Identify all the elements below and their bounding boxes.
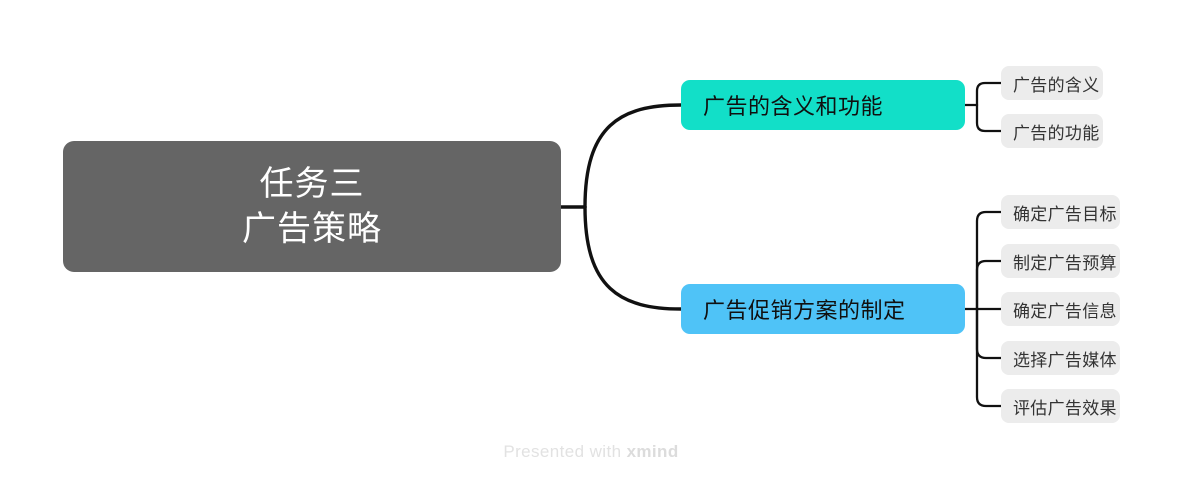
leaf-node-2-5[interactable]: 评估广告效果 — [1001, 389, 1120, 423]
root-node-label: 任务三广告策略 — [242, 162, 382, 252]
edge-branch-2-leaf-1 — [977, 212, 1001, 309]
leaf-node-2-3-label: 确定广告信息 — [1013, 297, 1117, 322]
leaf-node-2-1-label: 确定广告目标 — [1013, 200, 1117, 225]
leaf-node-2-4[interactable]: 选择广告媒体 — [1001, 341, 1120, 375]
leaf-node-1-2-label: 广告的功能 — [1013, 119, 1100, 144]
branch-node-1-label: 广告的含义和功能 — [703, 89, 883, 121]
edge-root-to-branch-2 — [585, 207, 681, 309]
leaf-node-2-2-label: 制定广告预算 — [1013, 249, 1117, 274]
leaf-node-1-2[interactable]: 广告的功能 — [1001, 114, 1103, 148]
branch-node-2[interactable]: 广告促销方案的制定 — [681, 284, 965, 334]
leaf-node-2-3[interactable]: 确定广告信息 — [1001, 292, 1120, 326]
leaf-node-2-1[interactable]: 确定广告目标 — [1001, 195, 1120, 229]
edge-branch-1-leaf-1 — [977, 83, 1001, 105]
branch-node-2-label: 广告促销方案的制定 — [703, 293, 906, 325]
watermark: Presented with xmind — [0, 442, 1182, 462]
leaf-node-1-1[interactable]: 广告的含义 — [1001, 66, 1103, 100]
leaf-node-2-5-label: 评估广告效果 — [1013, 394, 1117, 419]
edge-branch-2-leaf-2 — [977, 261, 1001, 309]
branch-node-1[interactable]: 广告的含义和功能 — [681, 80, 965, 130]
leaf-node-2-2[interactable]: 制定广告预算 — [1001, 244, 1120, 278]
root-node-label-line2: 广告策略 — [242, 210, 382, 248]
leaf-node-1-1-label: 广告的含义 — [1013, 71, 1100, 96]
watermark-brand: xmind — [627, 442, 679, 461]
watermark-prefix: Presented with — [503, 442, 626, 461]
mindmap-canvas: 任务三广告策略 广告的含义和功能 广告的含义 广告的功能 广告促销方案的制定 确… — [0, 0, 1182, 486]
edge-branch-2-leaf-5 — [977, 309, 1001, 406]
edge-branch-2-leaf-4 — [977, 309, 1001, 358]
root-node[interactable]: 任务三广告策略 — [63, 141, 561, 272]
edge-root-to-branch-1 — [585, 105, 681, 207]
root-node-label-line1: 任务三 — [260, 165, 365, 203]
leaf-node-2-4-label: 选择广告媒体 — [1013, 346, 1117, 371]
edge-branch-1-leaf-2 — [977, 105, 1001, 131]
